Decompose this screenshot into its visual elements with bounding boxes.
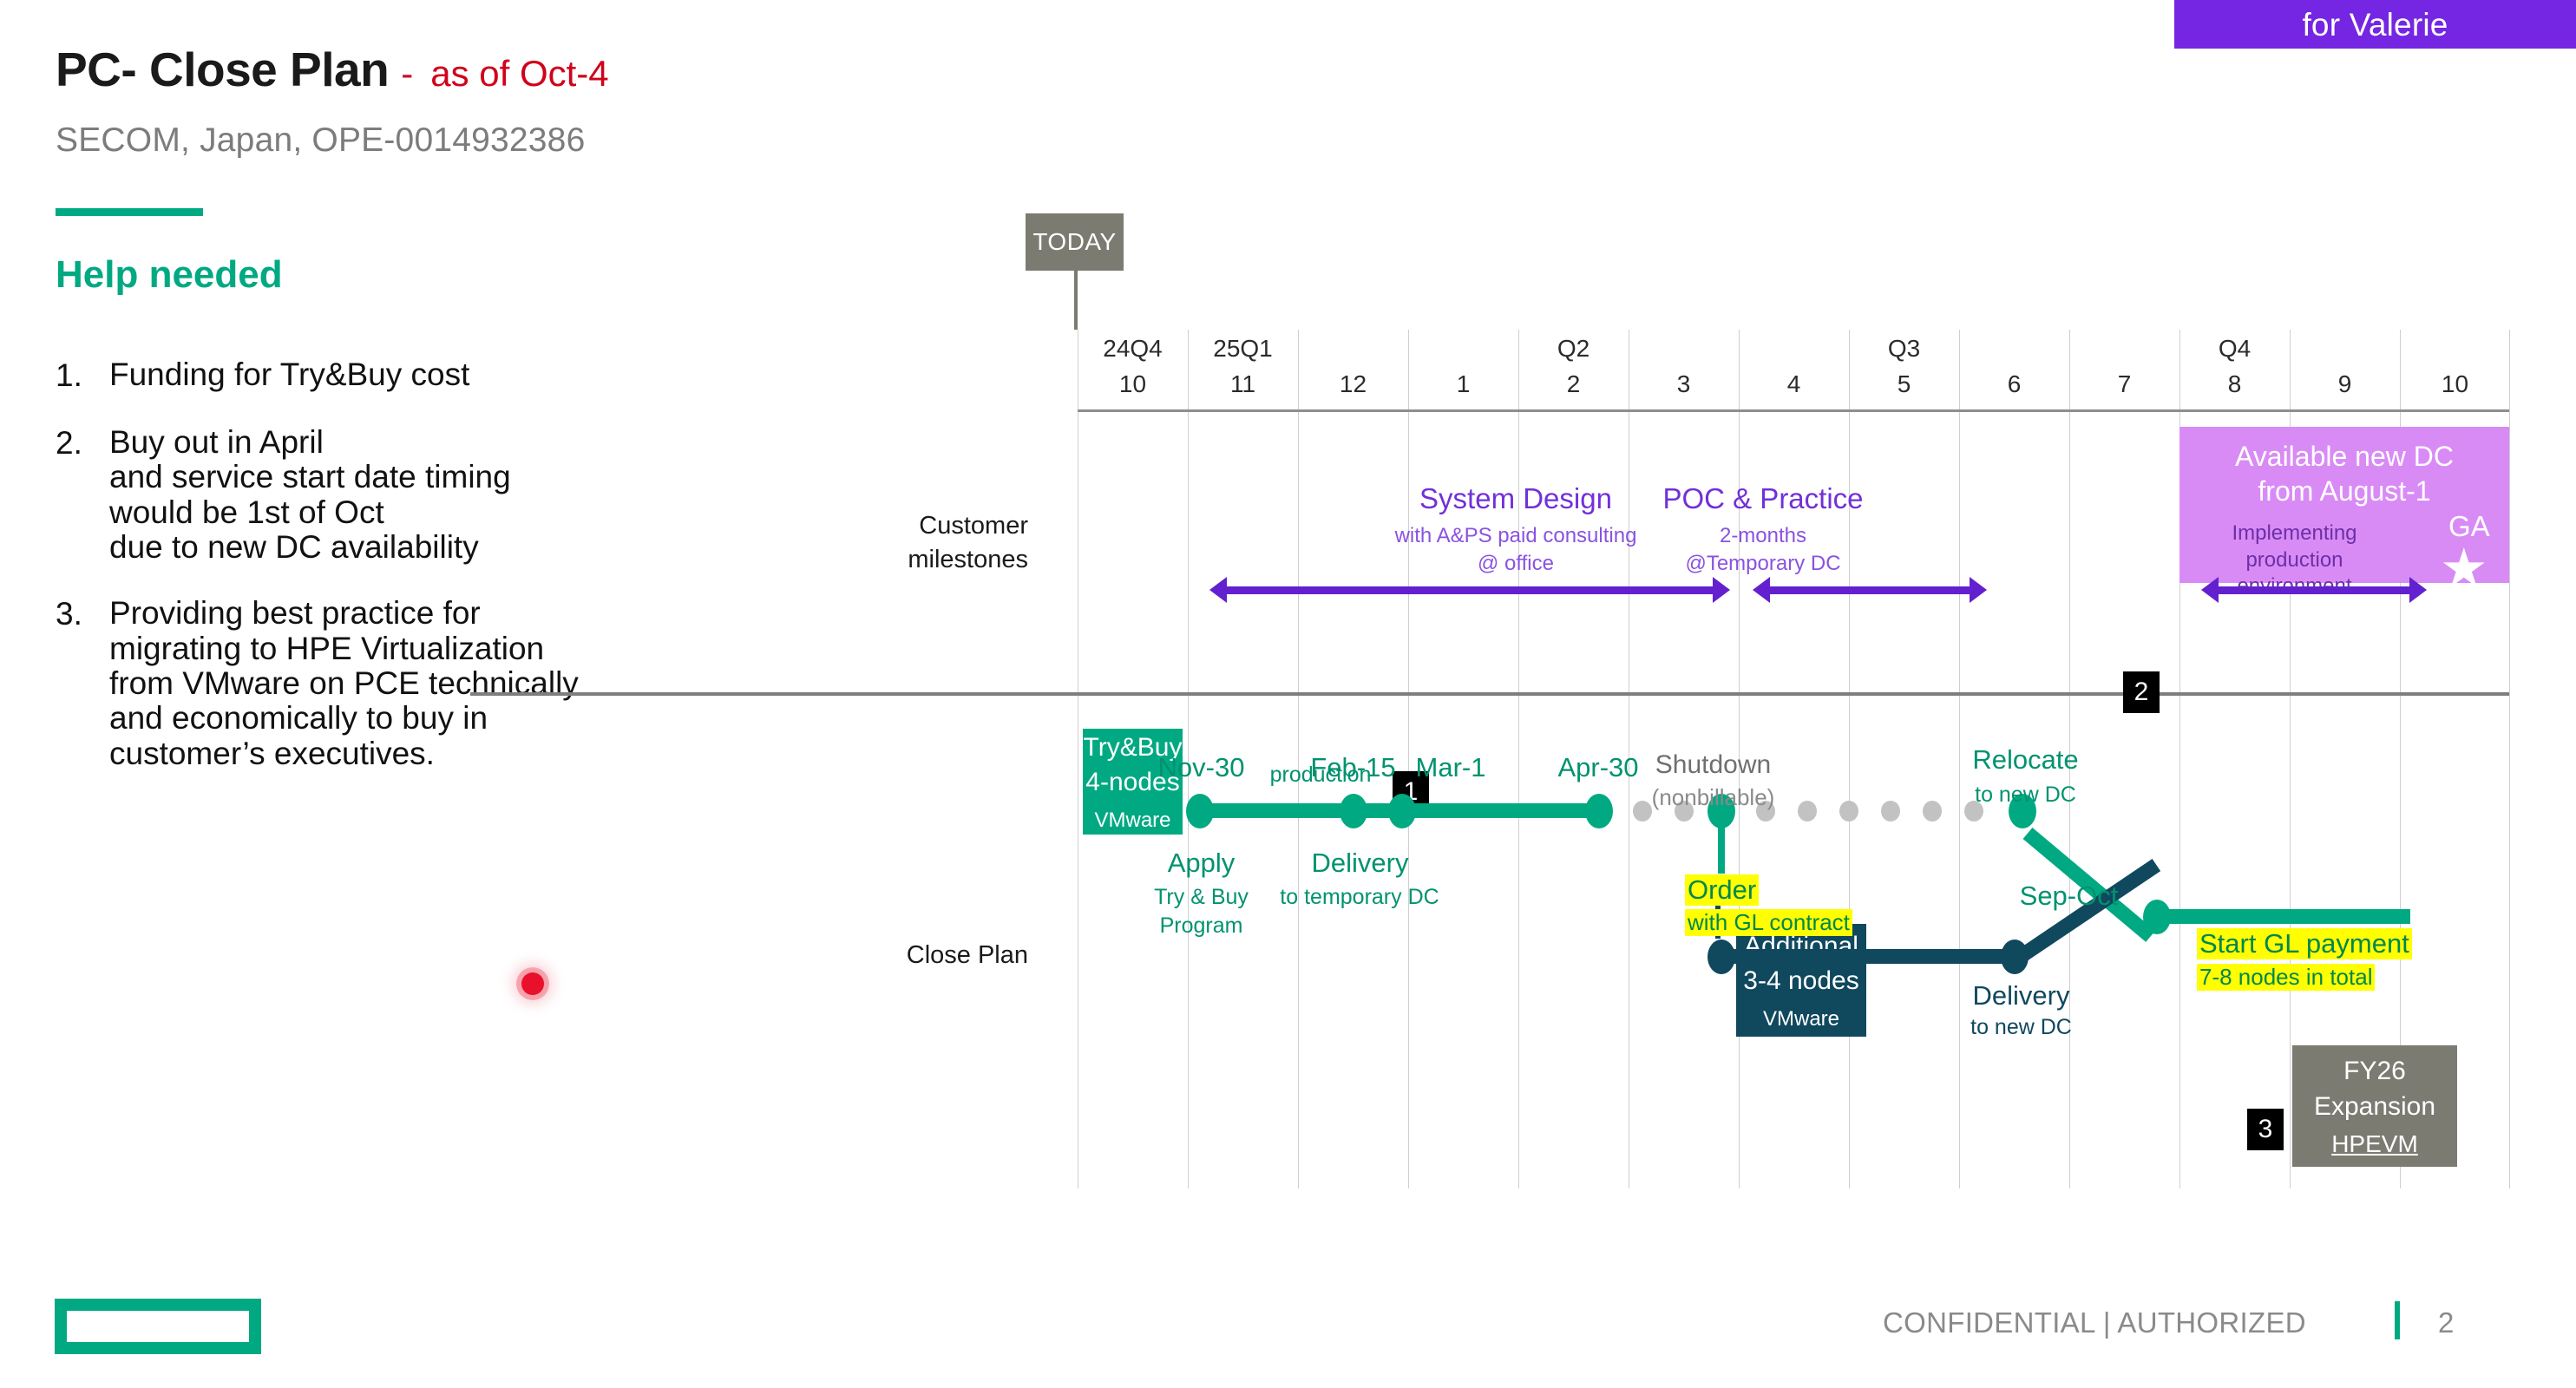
list-item: 2. Buy out in April and service start da… <box>56 425 880 565</box>
additional-line-3: VMware <box>1763 1007 1839 1031</box>
today-marker: TODAY <box>1026 213 1124 271</box>
node-dotted <box>1923 801 1942 822</box>
arrow-shaft <box>1223 586 1716 594</box>
row-label-close-plan: Close Plan <box>868 939 1028 972</box>
track-segment-green-tail <box>2167 909 2410 924</box>
bullet-line: Buy out in April <box>109 425 511 460</box>
month-label: 7 <box>2069 370 2179 398</box>
label-delivery-new-dc-sub: to new DC <box>1941 1015 2101 1040</box>
bullet-line: would be 1st of Oct <box>109 495 511 530</box>
label-relocate: Relocate <box>1945 744 2106 776</box>
title-accent-rule <box>56 208 203 216</box>
label-order-title: Order <box>1685 874 1759 906</box>
arrow-head-right-icon <box>2409 577 2427 603</box>
label-start-gl-payment: Start GL payment <box>2197 928 2412 959</box>
callout-chip-2: 2 <box>2123 671 2160 713</box>
label-apply: Apply <box>1134 848 1268 879</box>
month-label: 10 <box>1078 370 1188 398</box>
month-label: 6 <box>1959 370 2069 398</box>
month-label: 11 <box>1188 370 1298 398</box>
ga-star-icon: ★ <box>2440 542 2488 596</box>
footer-accent-bar <box>2395 1301 2400 1339</box>
additional-line-2: 3-4 nodes <box>1743 964 1858 998</box>
gridline <box>2509 330 2510 1188</box>
gridline <box>1078 330 1078 1188</box>
trybuy-line-3: VMware <box>1094 809 1170 833</box>
row-label-customer-milestones: Customer milestones <box>868 509 1028 577</box>
track-segment-green <box>1412 803 1590 818</box>
timeline-grid: 24Q4 25Q1 Q2 Q3 Q4 10 11 12 1 2 3 4 5 6 … <box>1078 330 2509 1188</box>
additional-nodes-box: Additional 3-4 nodes VMware <box>1736 924 1866 1037</box>
node-dotted <box>1881 801 1900 822</box>
bullet-line: customer’s executives. <box>109 737 579 771</box>
track-segment-navy <box>1730 949 2009 964</box>
title-dash: - <box>401 53 413 95</box>
footer-page-number: 2 <box>2438 1306 2454 1339</box>
month-label: 1 <box>1408 370 1518 398</box>
node-apr-30 <box>1585 794 1613 828</box>
bullet-line: due to new DC availability <box>109 530 511 565</box>
month-label: 8 <box>2179 370 2290 398</box>
bullet-text: Funding for Try&Buy cost <box>109 357 469 394</box>
label-delivery-new-dc: Delivery <box>1950 980 2093 1012</box>
node-feb-15 <box>1340 794 1367 828</box>
node-dotted <box>1798 801 1817 822</box>
month-label: 5 <box>1849 370 1959 398</box>
bullet-line: migrating to HPE Virtualization <box>109 632 579 666</box>
month-label: 4 <box>1739 370 1849 398</box>
quarter-label: Q2 <box>1518 335 1629 363</box>
bullet-line: and service start date timing <box>109 460 511 494</box>
label-order: Order <box>1685 874 1759 906</box>
help-needed-list: 1. Funding for Try&Buy cost 2. Buy out i… <box>56 357 880 802</box>
month-label: 9 <box>2290 370 2400 398</box>
title-row: PC- Close Plan - as of Oct-4 <box>56 42 609 97</box>
cursor-click-indicator <box>521 972 544 995</box>
label-shutdown: Shutdown <box>1633 750 1793 780</box>
gridline <box>1849 330 1850 1188</box>
valerie-banner: as of October-4 for Valerie <box>2174 0 2576 49</box>
fy26-line-2: Expansion <box>2314 1090 2435 1125</box>
arrow-head-right-icon <box>1713 577 1730 603</box>
bullet-line: from VMware on PCE technically <box>109 666 579 701</box>
page-title: PC- Close Plan <box>56 42 389 97</box>
arrow-shaft <box>1766 586 1973 594</box>
today-marker-stem <box>1074 271 1078 330</box>
node-dotted <box>1839 801 1858 822</box>
label-mar-1: Mar-1 <box>1390 752 1511 783</box>
bullet-number: 3. <box>56 596 109 771</box>
label-apply-sub: Try & Buy Program <box>1130 883 1273 940</box>
track-segment-green <box>1206 803 1345 818</box>
page-subtitle: SECOM, Japan, OPE-0014932386 <box>56 121 585 160</box>
label-start-gl-sub: 7-8 nodes in total <box>2197 964 2375 991</box>
bullet-line: Funding for Try&Buy cost <box>109 357 469 392</box>
quarter-label: 25Q1 <box>1188 335 1298 363</box>
banner-line-2: for Valerie <box>2302 5 2448 45</box>
month-label: 2 <box>1518 370 1629 398</box>
arrow-shaft <box>2215 586 2413 594</box>
section-divider <box>470 692 2509 696</box>
fy26-line-3: HPEVM <box>2331 1130 2418 1158</box>
poc-practice-title: POC & Practice <box>1555 482 1971 515</box>
label-shutdown-sub: (nonbillable) <box>1629 784 1798 811</box>
fy26-expansion-box: FY26 Expansion HPEVM <box>2292 1045 2457 1167</box>
label-relocate-sub: to new DC <box>1945 781 2106 809</box>
label-order-sub: with GL contract <box>1685 909 1852 936</box>
timeline-axis <box>1078 409 2509 412</box>
list-item: 1. Funding for Try&Buy cost <box>56 357 880 394</box>
label-start-gl-title: Start GL payment <box>2197 928 2412 959</box>
quarter-label: Q3 <box>1849 335 1959 363</box>
gridline <box>1518 330 1519 1188</box>
hpe-logo <box>55 1299 261 1354</box>
list-item: 3. Providing best practice for migrating… <box>56 596 880 771</box>
node-nov-30 <box>1186 794 1214 828</box>
poc-practice-sub: 2-months @Temporary DC <box>1555 522 1971 579</box>
label-delivery-sub: to temporary DC <box>1264 883 1455 912</box>
fy26-line-1: FY26 <box>2343 1054 2406 1090</box>
bullet-text: Providing best practice for migrating to… <box>109 596 579 771</box>
label-delivery: Delivery <box>1293 848 1427 879</box>
help-needed-heading: Help needed <box>56 253 283 297</box>
footer-confidential: CONFIDENTIAL | AUTHORIZED <box>1883 1306 2306 1339</box>
new-dc-heading: Available new DC from August-1 <box>2235 439 2454 508</box>
label-order-sub-wrap: with GL contract <box>1685 909 1852 936</box>
label-start-gl-sub-wrap: 7-8 nodes in total <box>2197 964 2375 991</box>
bullet-number: 2. <box>56 425 109 565</box>
label-sep-oct: Sep-Oct <box>1997 881 2140 912</box>
arrow-head-right-icon <box>1970 577 1987 603</box>
bullet-line: and economically to buy in <box>109 701 579 736</box>
month-label: 12 <box>1298 370 1408 398</box>
node-mar-1 <box>1388 794 1416 828</box>
bullet-text: Buy out in April and service start date … <box>109 425 511 565</box>
shutdown-order-stem <box>1718 827 1725 874</box>
callout-chip-3: 3 <box>2247 1109 2284 1150</box>
title-as-of: as of Oct-4 <box>430 53 608 95</box>
month-label: 3 <box>1629 370 1739 398</box>
slide-canvas: as of October-4 for Valerie PC- Close Pl… <box>0 0 2576 1388</box>
quarter-label: 24Q4 <box>1078 335 1188 363</box>
bullet-line: Providing best practice for <box>109 596 579 631</box>
month-label: 10 <box>2400 370 2510 398</box>
quarter-label: Q4 <box>2179 335 2290 363</box>
bullet-number: 1. <box>56 357 109 394</box>
